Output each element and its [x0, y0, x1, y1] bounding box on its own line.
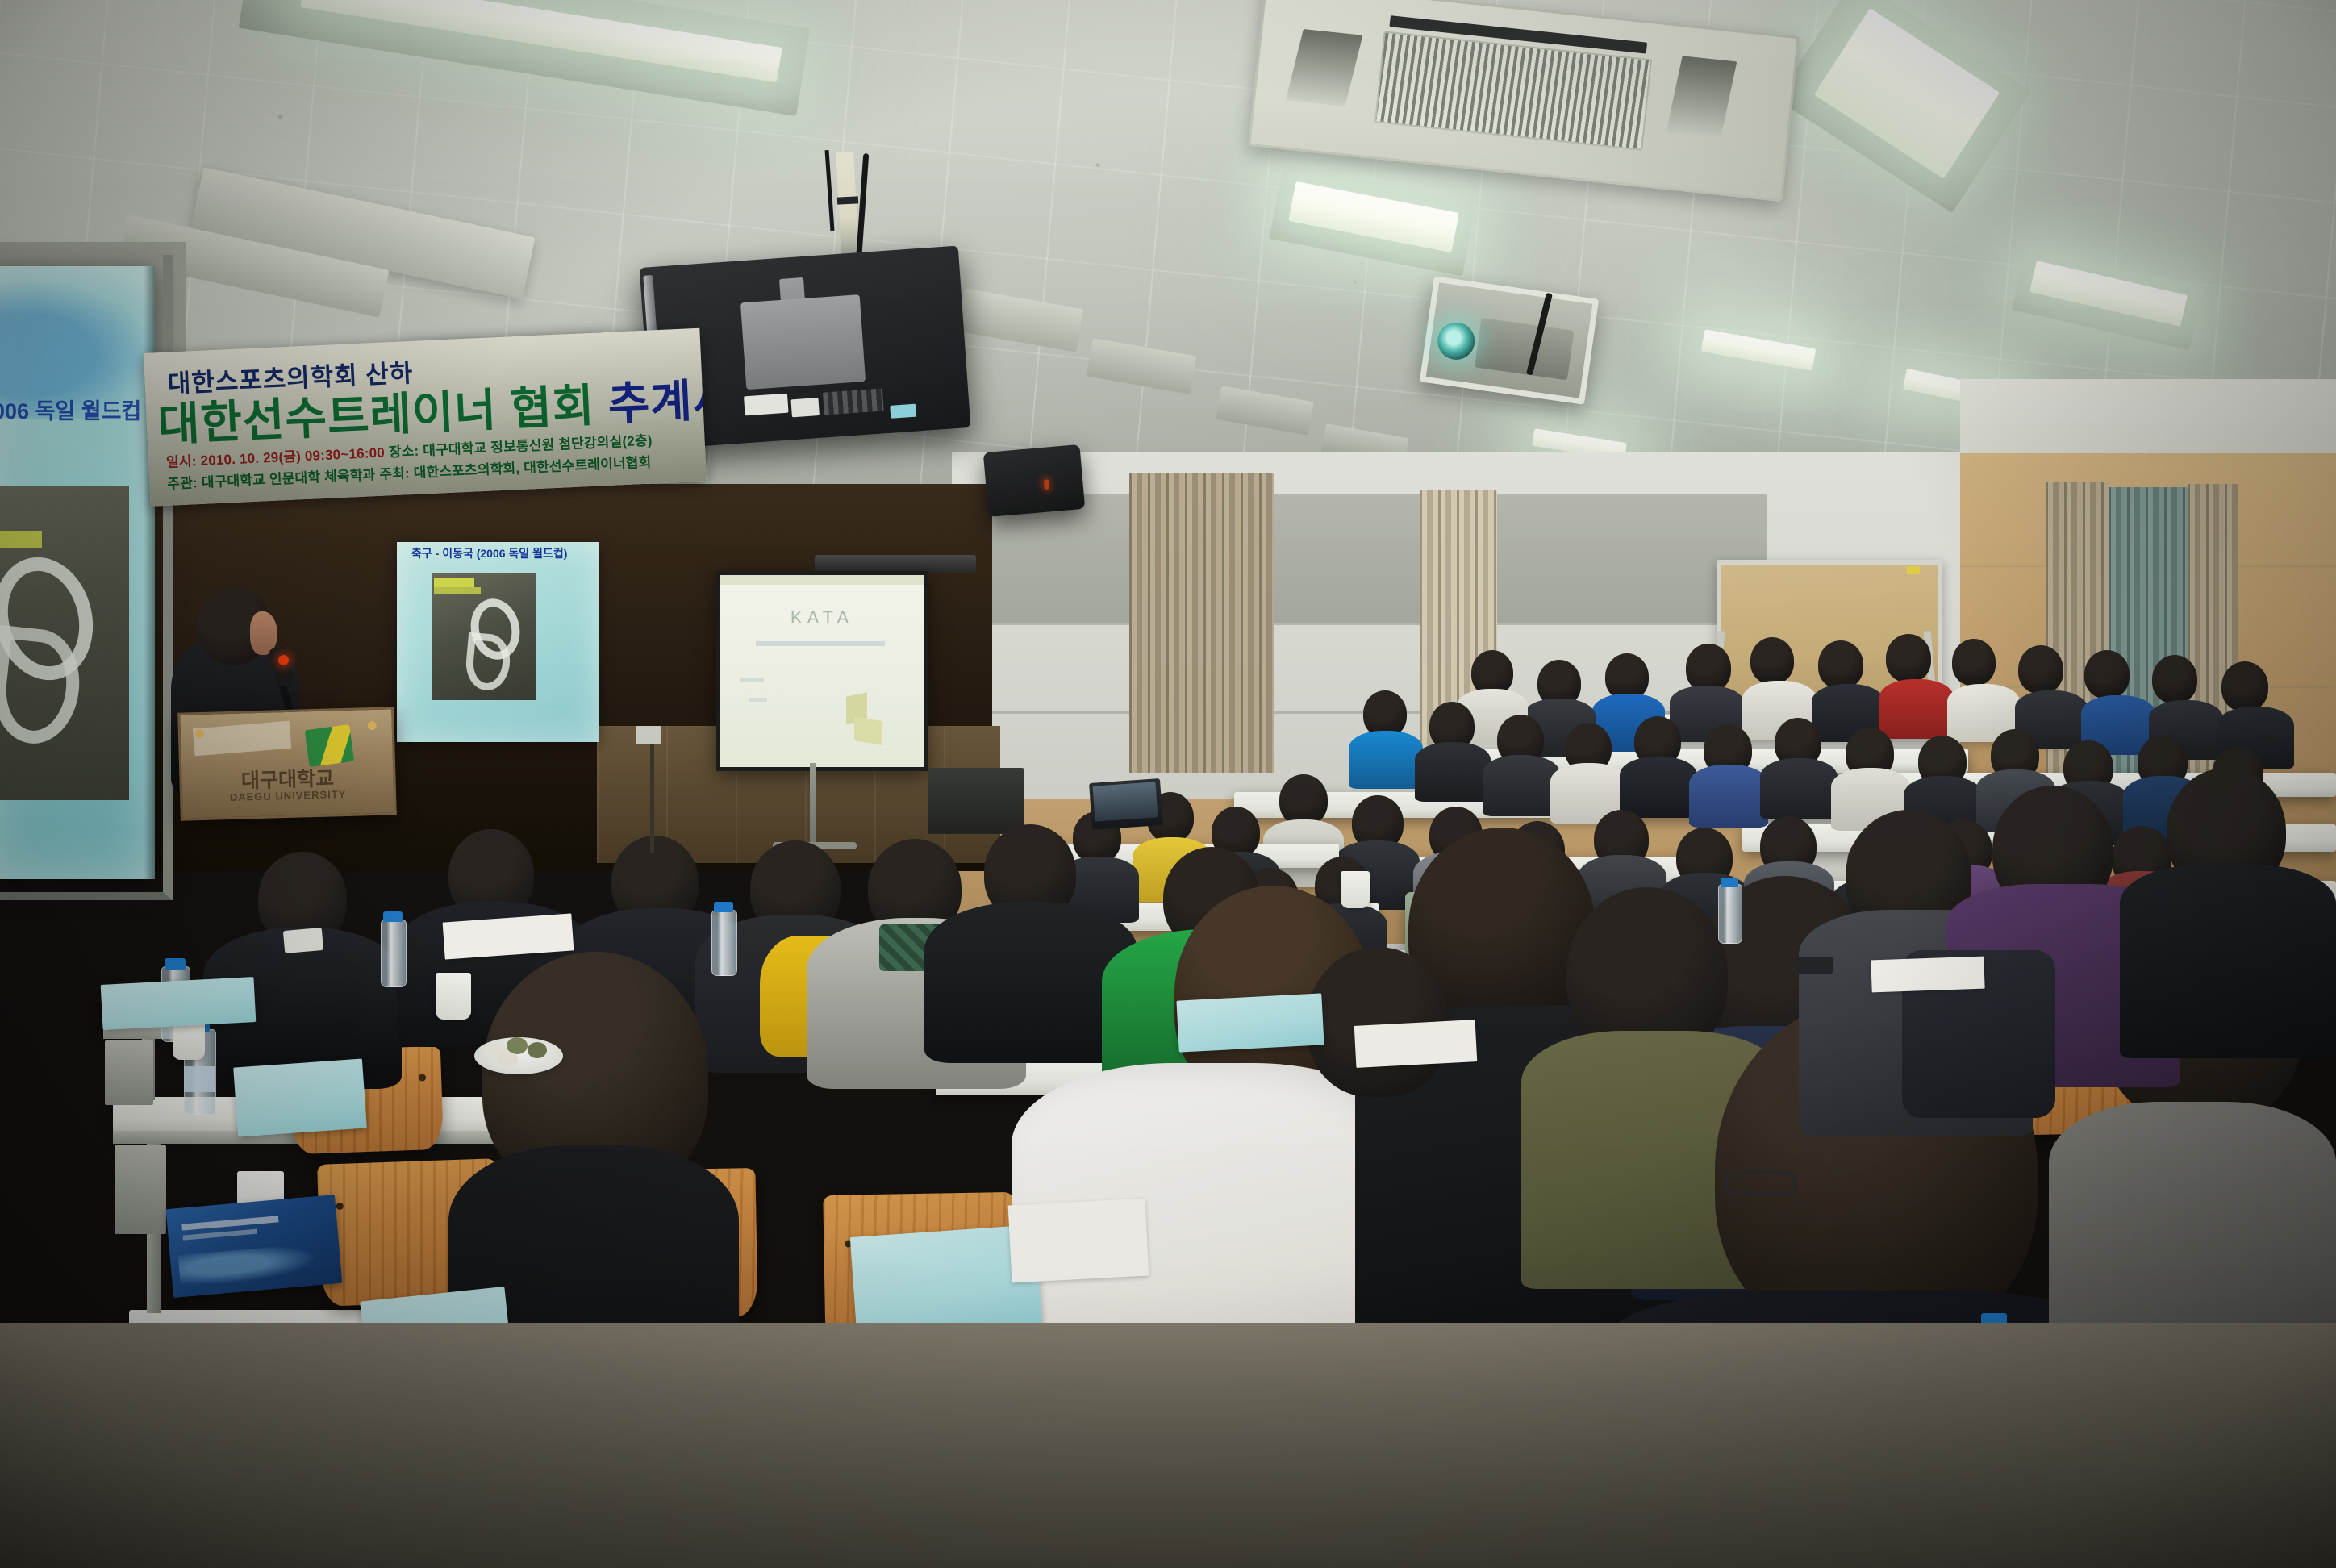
handout-cyan[interactable]: [1176, 993, 1324, 1052]
audience-torso: [1689, 765, 1768, 828]
mobile-phone[interactable]: [1797, 957, 1833, 974]
slide-photo-tag: [434, 578, 474, 587]
podium-papers: [193, 721, 291, 757]
slide-subtitle-bar: [756, 641, 885, 646]
bottle-cap: [383, 911, 403, 922]
tv-energy-sticker: [890, 404, 916, 419]
slide-title-center: 축구 - 이동국 (2006 독일 월드컵): [411, 545, 599, 561]
handout-cyan[interactable]: [233, 1059, 367, 1137]
projector-body: [1475, 318, 1574, 381]
eyeglasses: [1725, 1171, 1797, 1195]
desk-modesty-panel: [105, 1040, 153, 1105]
pulldown-screen-case: [815, 555, 976, 573]
banner-host-value: 대구대학교 인문대학 체육학과: [201, 467, 375, 490]
ceiling-projector-cage: [1420, 276, 1599, 404]
slide-leaf-graphic-2: [854, 716, 882, 745]
handout-paper[interactable]: [1871, 957, 1984, 993]
tv-spec-label: [744, 394, 789, 416]
university-emblem: [305, 724, 355, 767]
booklet-title-bar: [181, 1216, 278, 1230]
hvac-slot-right: [1666, 56, 1737, 138]
microphone-led: [278, 655, 289, 665]
whiteboard-marker-tray: [1907, 566, 1920, 574]
bottle-cap: [714, 902, 733, 912]
audience-torso: [1620, 757, 1697, 818]
slide-photo-tag-2: [434, 587, 481, 594]
audience-head: [1818, 640, 1863, 689]
paper-cup[interactable]: [436, 973, 471, 1020]
bottle-cap: [165, 958, 186, 970]
audience-head: [2221, 661, 2268, 711]
handout-paper[interactable]: [1354, 1020, 1478, 1068]
laptop-screen: [1093, 782, 1158, 821]
desk-modesty-panel: [115, 1145, 166, 1234]
water-bottle[interactable]: [1718, 884, 1742, 944]
banner-host-label: 주관:: [167, 475, 198, 492]
slide-photo-caption-bar: [0, 531, 42, 548]
curtain-center-left: [1129, 473, 1274, 773]
event-banner: 대한스포츠의학회 산하 대한선수트레이너 협회 추계세미나 일시: 2010. …: [144, 328, 707, 507]
av-table: [928, 768, 1024, 834]
audience-torso: [1415, 742, 1491, 802]
audience-torso: [1879, 679, 1954, 739]
tv-port-panel: [823, 388, 884, 415]
podium-knob-right: [368, 721, 377, 730]
audience-head: [2084, 650, 2130, 699]
audience-torso: [1483, 755, 1560, 816]
booklet-cover-art: [178, 1242, 334, 1291]
water-bottle[interactable]: [381, 920, 407, 987]
slide-bullet-1: [740, 678, 764, 682]
wall-seam-1: [952, 623, 1767, 625]
projection-screen-left: 2006 독일 월드컵: [0, 266, 155, 879]
conference-booklet[interactable]: [166, 1195, 343, 1298]
right-wall-upper: [1960, 379, 2336, 453]
banner-date-label: 일시:: [166, 453, 197, 470]
wall-outlet[interactable]: [636, 726, 661, 744]
screen-tripod-pole: [810, 763, 816, 847]
lecture-hall-photo: 2006 독일 월드컵 축구 - 이동국 (2006 독일 월드컵) KATA: [0, 0, 2336, 1568]
slide-photo-center: [432, 573, 536, 700]
hvac-slot-left: [1286, 29, 1363, 106]
handout-paper[interactable]: [1008, 1199, 1149, 1283]
lectern-podium: 대구대학교 DAEGU UNIVERSITY: [177, 707, 397, 820]
screen-top-band: [720, 575, 924, 585]
slide-title-left: 2006 독일 월드컵: [0, 394, 155, 425]
floor: [0, 1323, 2336, 1568]
attendee-body-mid-r4: [2120, 865, 2336, 1058]
bottle-label: [184, 1066, 215, 1092]
water-bottle[interactable]: [711, 910, 737, 976]
slide-bullet-2: [749, 698, 767, 702]
banner-org-label: 주최:: [379, 465, 410, 482]
audience-head: [1279, 774, 1328, 826]
projected-slide-center: 축구 - 이동국 (2006 독일 월드컵): [397, 542, 599, 742]
slide-title-kata: KATA: [720, 607, 924, 628]
rice-cake: [498, 1052, 518, 1067]
wall-speaker-right: [983, 444, 1086, 517]
paper-cup[interactable]: [1341, 871, 1370, 908]
audience-head: [1952, 639, 1996, 686]
audience-head: [2152, 655, 2197, 703]
audience-head: [2018, 645, 2063, 694]
audience-torso: [1349, 731, 1423, 789]
handout-cyan[interactable]: [101, 977, 257, 1030]
tv-vesa-plate: [740, 294, 866, 390]
slide-photo-left: [0, 486, 129, 800]
bottle-cap: [1721, 878, 1738, 887]
tv-brand-label: [790, 398, 819, 417]
speaker-power-led-2: [1044, 479, 1049, 489]
rice-cake: [528, 1042, 547, 1058]
audience-head: [1750, 637, 1794, 684]
audience-torso: [1760, 758, 1838, 819]
banner-title-accent: 추계세미나: [607, 369, 707, 430]
audience-head: [1886, 634, 1931, 682]
tv-mount-band: [837, 196, 858, 204]
pulldown-projection-screen: KATA: [716, 571, 928, 771]
booklet-subtitle-bar: [183, 1229, 257, 1241]
banner-org-value: 대한스포츠의학회, 대한선수트레이너협회: [413, 455, 652, 481]
projector-lens-icon: [1435, 320, 1477, 362]
audience-head: [1686, 644, 1731, 692]
back-wall-grey-band: [952, 494, 1767, 623]
wall-cable: [650, 740, 654, 853]
banner-place-label: 장소:: [388, 444, 419, 461]
attendee-collar-1: [283, 928, 323, 953]
